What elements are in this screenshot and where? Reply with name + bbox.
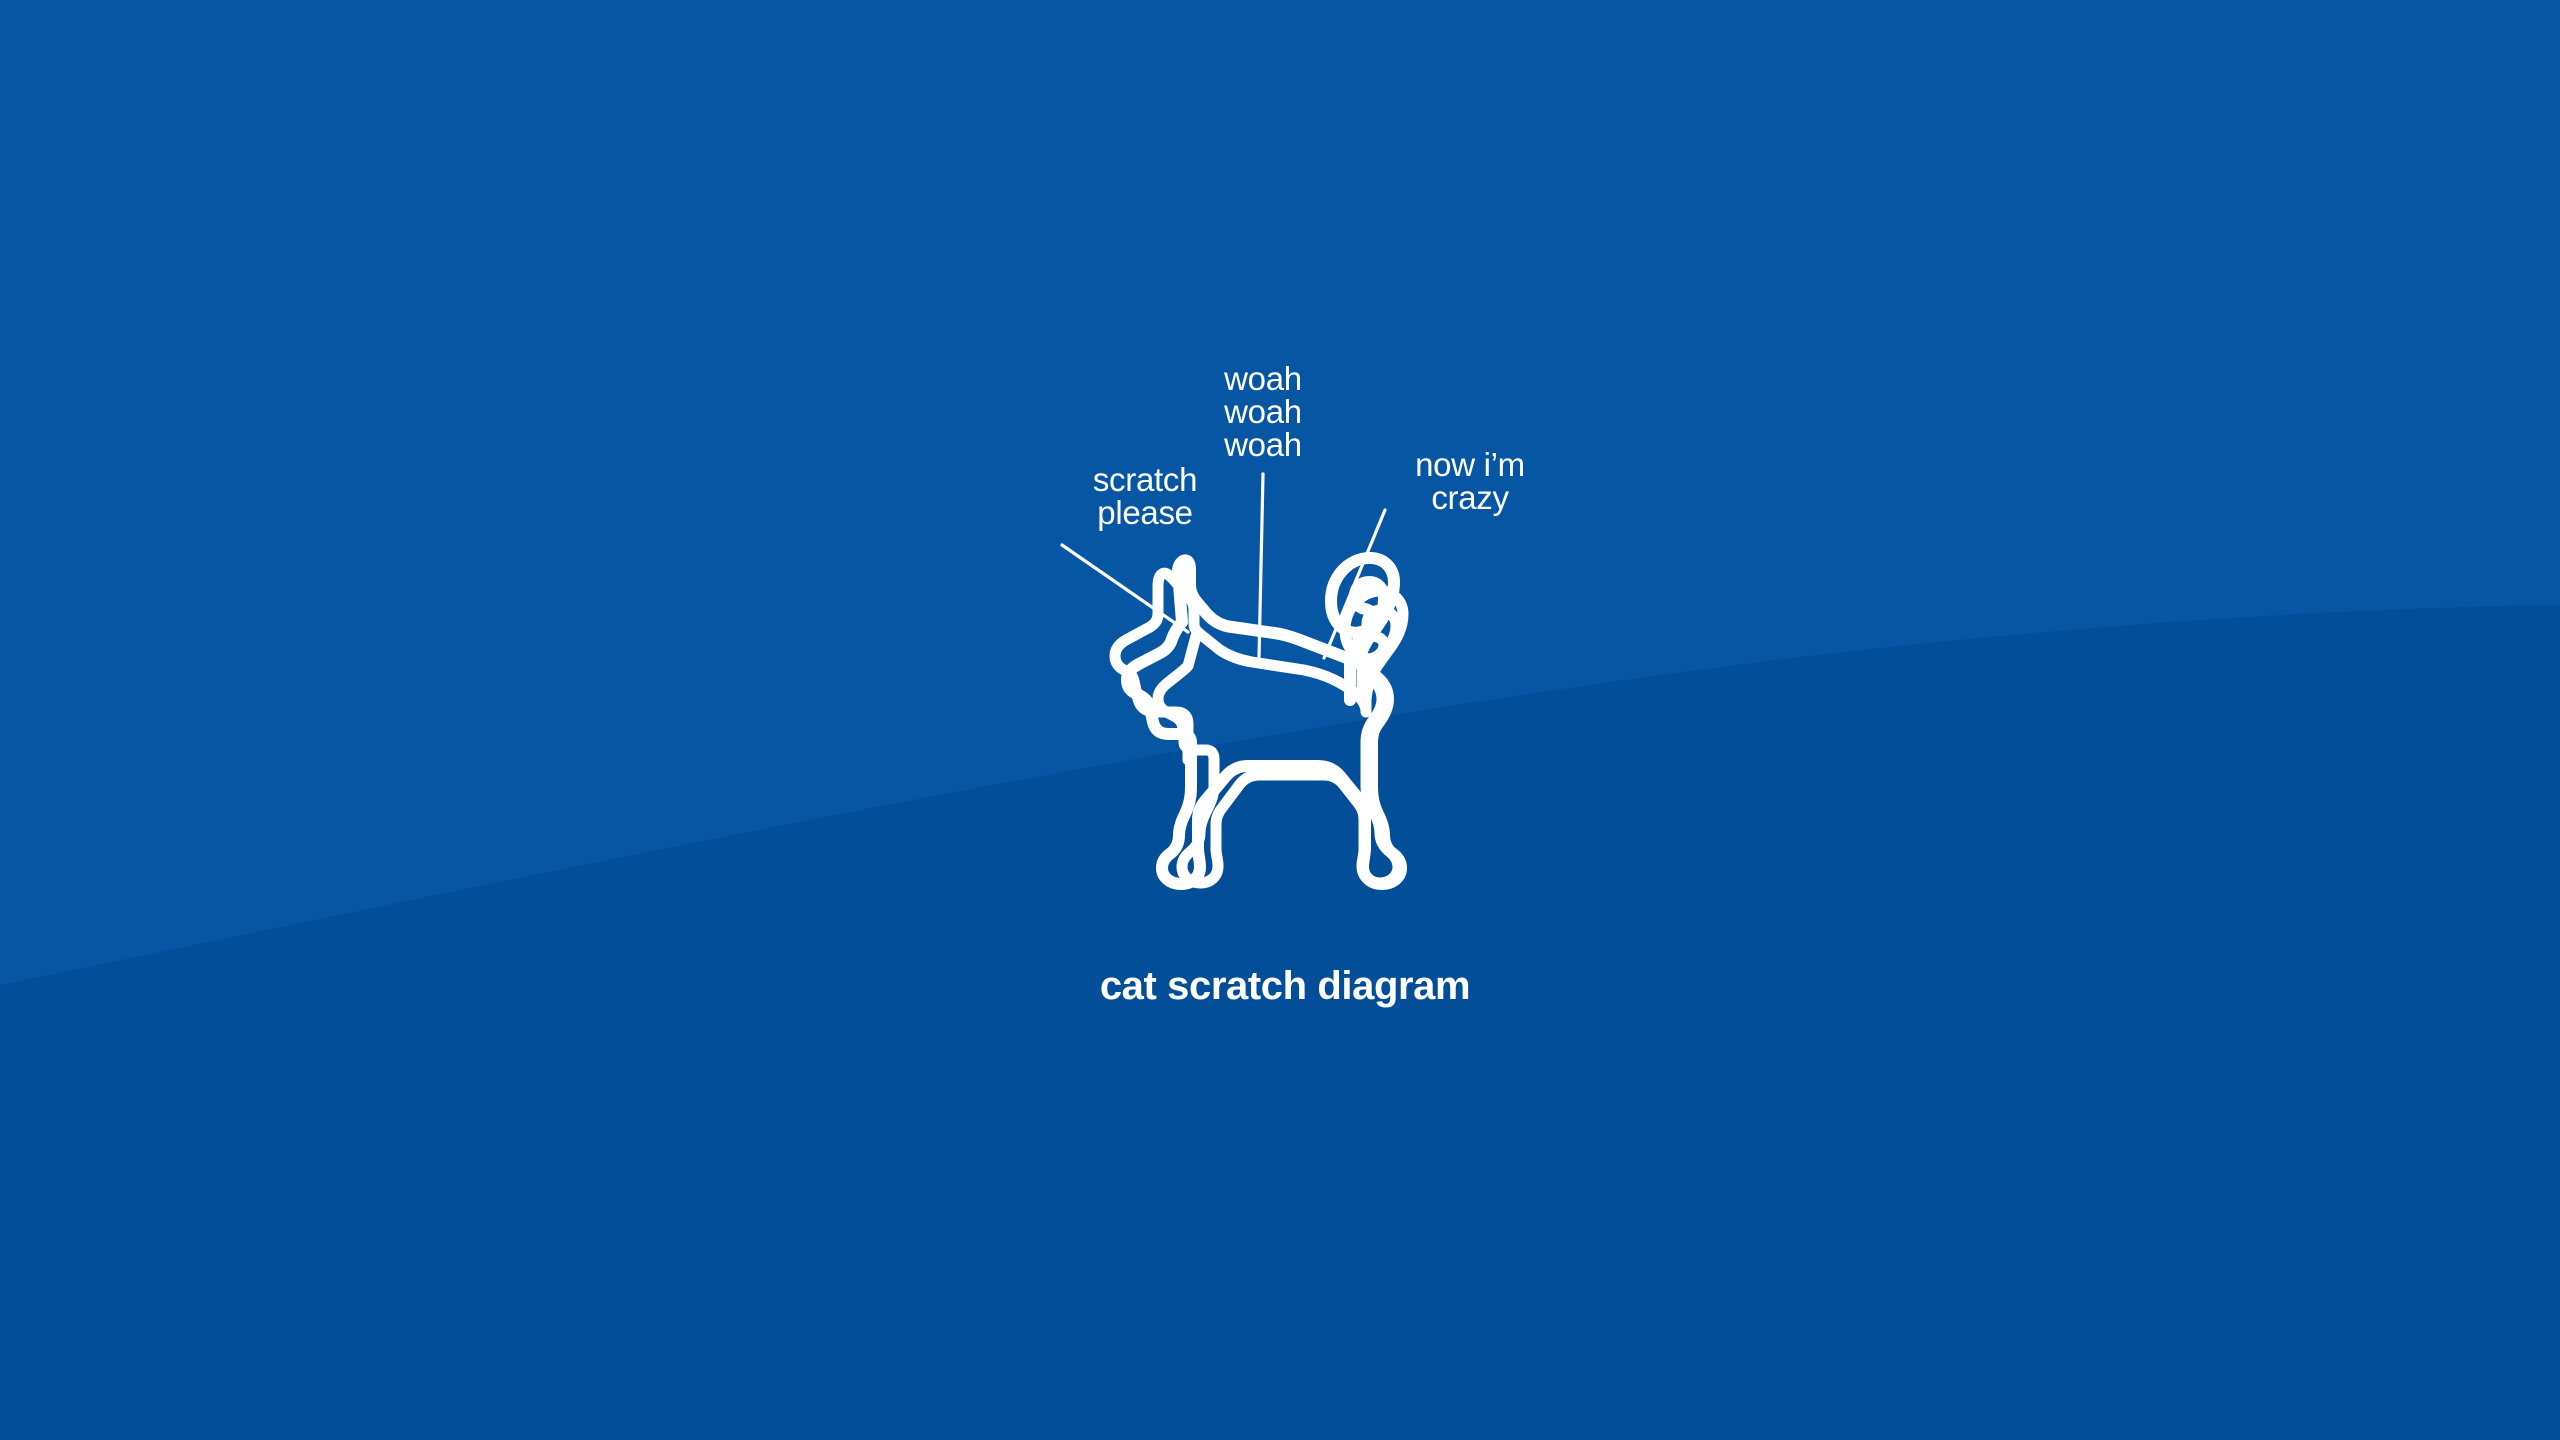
cat-icon-body bbox=[1127, 558, 1401, 884]
leader-line-scratch-please bbox=[1062, 545, 1188, 632]
label-scratch-please: scratch please bbox=[1040, 463, 1250, 529]
poster-canvas: scratch please woah woah woah now i’m cr… bbox=[0, 0, 2560, 1440]
cat-diagram bbox=[0, 0, 2560, 1440]
label-now-im-crazy: now i’m crazy bbox=[1360, 448, 1580, 514]
label-woah-woah-woah: woah woah woah bbox=[1178, 362, 1348, 461]
diagram-title: cat scratch diagram bbox=[885, 963, 1685, 1009]
